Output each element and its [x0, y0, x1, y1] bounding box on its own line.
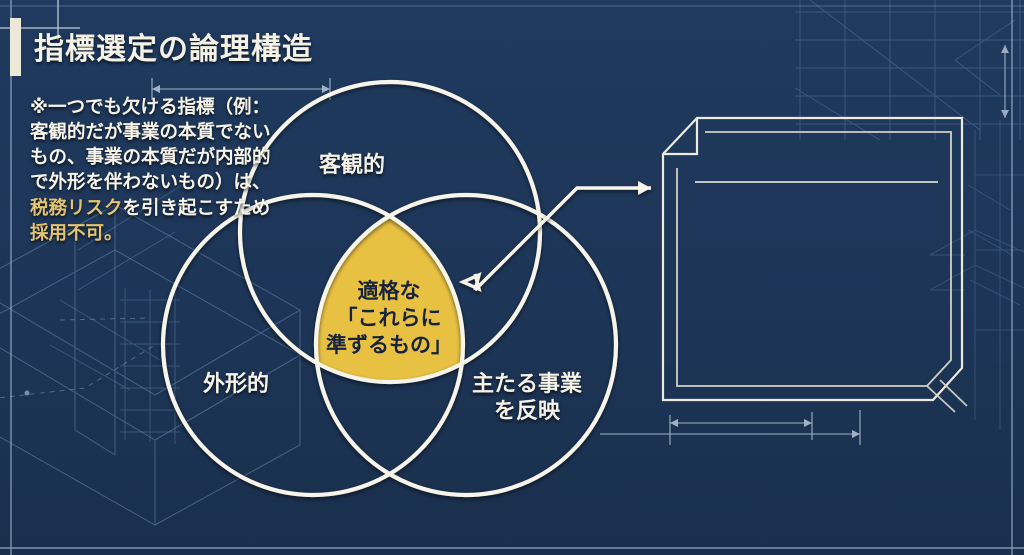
note-line-2: 客観的だが事業の本質でない: [30, 120, 298, 145]
note-line-3: もの、事業の本質だが内部的: [30, 145, 298, 170]
note-inner-border: [677, 132, 951, 386]
note-line-4: で外形を伴わないもの）は、: [30, 170, 298, 195]
note-risk-highlight: 税務リスク: [30, 198, 123, 219]
venn-label-business: 主たる事業 を反映: [472, 372, 582, 426]
slide-canvas: 指標選定の論理構造 客観的 外形的 主たる事業: [0, 0, 1024, 555]
venn-label-external: 外形的: [203, 372, 269, 399]
note-body-text: ※一つでも欠ける指標（例： 客観的だが事業の本質でない もの、事業の本質だが内部…: [30, 95, 298, 246]
venn-label-objective: 客観的: [319, 153, 385, 180]
note-callout-box[interactable]: [655, 110, 975, 425]
note-outer-border: [663, 118, 962, 400]
note-line-5: 税務リスクを引き起こすため: [30, 196, 298, 221]
venn-center-label: 適格な 「これらに 準ずるもの」: [326, 278, 452, 359]
note-risk-rest: を引き起こすため: [123, 198, 271, 219]
note-line-1: ※一つでも欠ける指標（例：: [30, 95, 298, 120]
note-conclusion: 採用不可。: [30, 221, 298, 246]
